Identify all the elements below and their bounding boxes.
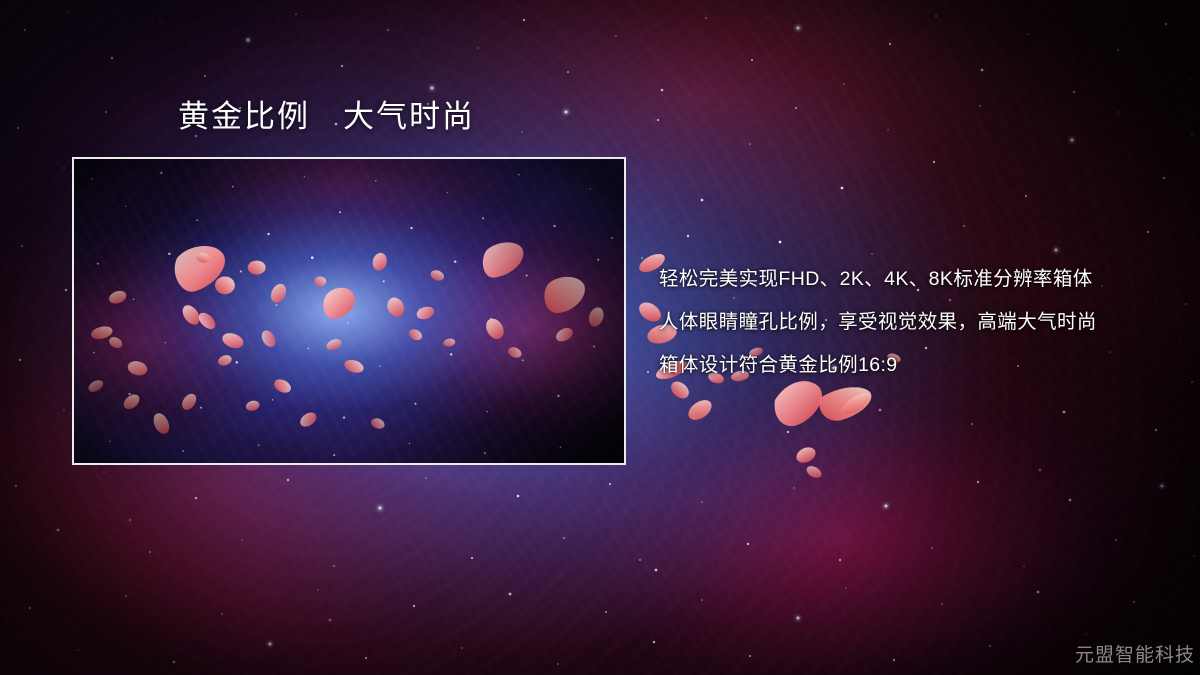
frame-image-vignette bbox=[74, 159, 624, 463]
company-watermark: 元盟智能科技 bbox=[1075, 640, 1195, 667]
image-frame bbox=[72, 157, 626, 465]
description-line: 人体眼睛瞳孔比例，享受视觉效果，高端大气时尚 bbox=[659, 301, 1159, 344]
description-line: 箱体设计符合黄金比例16:9 bbox=[659, 344, 1159, 387]
presentation-slide: 黄金比例 大气时尚 轻松完美实现FHD、2K、4K、8K标准分辨率箱体 人体眼睛… bbox=[0, 0, 1200, 675]
description-line: 轻松完美实现FHD、2K、4K、8K标准分辨率箱体 bbox=[659, 258, 1159, 301]
page-title: 黄金比例 大气时尚 bbox=[178, 100, 475, 134]
feature-description: 轻松完美实现FHD、2K、4K、8K标准分辨率箱体 人体眼睛瞳孔比例，享受视觉效… bbox=[659, 258, 1159, 387]
